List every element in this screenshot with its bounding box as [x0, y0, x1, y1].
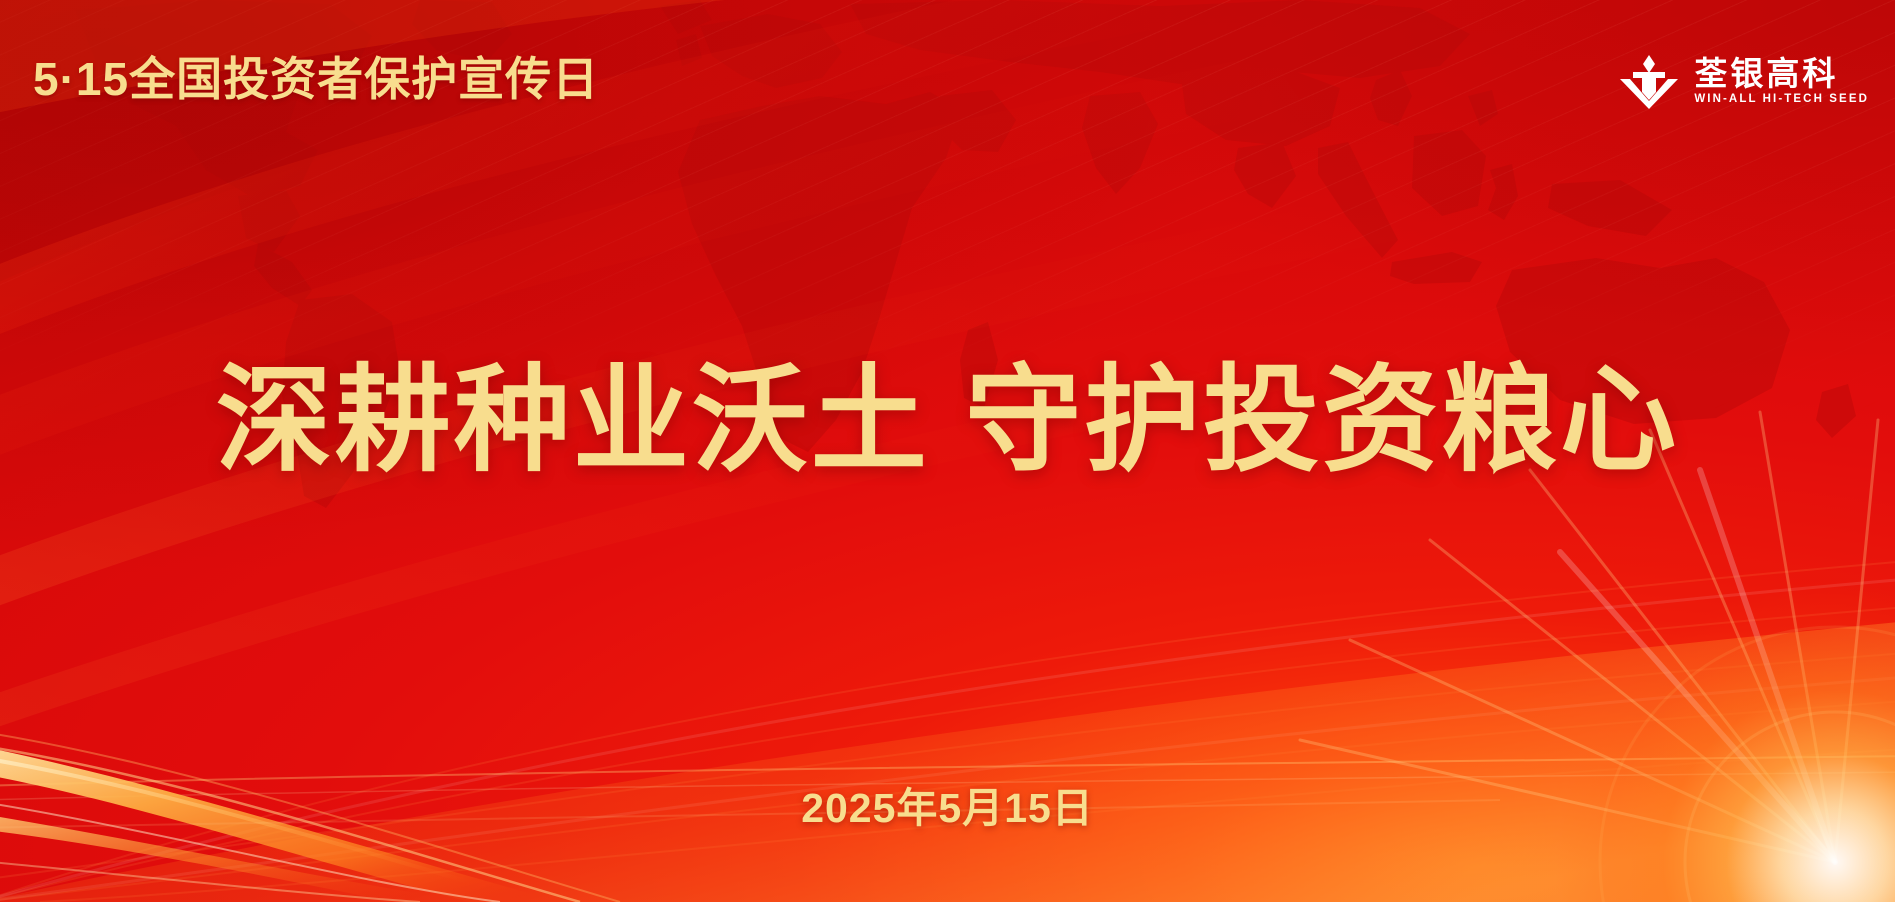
- logo-text-block: 荃银高科 WIN-ALL HI-TECH SEED: [1694, 57, 1869, 105]
- company-name-cn: 荃银高科: [1694, 57, 1869, 92]
- company-logo: 荃银高科 WIN-ALL HI-TECH SEED: [1618, 52, 1869, 110]
- event-title: 5·15全国投资者保护宣传日: [33, 56, 599, 102]
- banner-content: 5·15全国投资者保护宣传日 荃银高科 WIN-ALL HI-TECH SEED…: [0, 0, 1895, 902]
- event-date: 2025年5月15日: [0, 788, 1895, 829]
- company-name-en: WIN-ALL HI-TECH SEED: [1694, 94, 1869, 106]
- win-all-sprout-logo-icon: [1618, 52, 1680, 110]
- main-headline: 深耕种业沃土 守护投资粮心: [0, 352, 1895, 489]
- investor-protection-day-banner: 5·15全国投资者保护宣传日 荃银高科 WIN-ALL HI-TECH SEED…: [0, 0, 1895, 902]
